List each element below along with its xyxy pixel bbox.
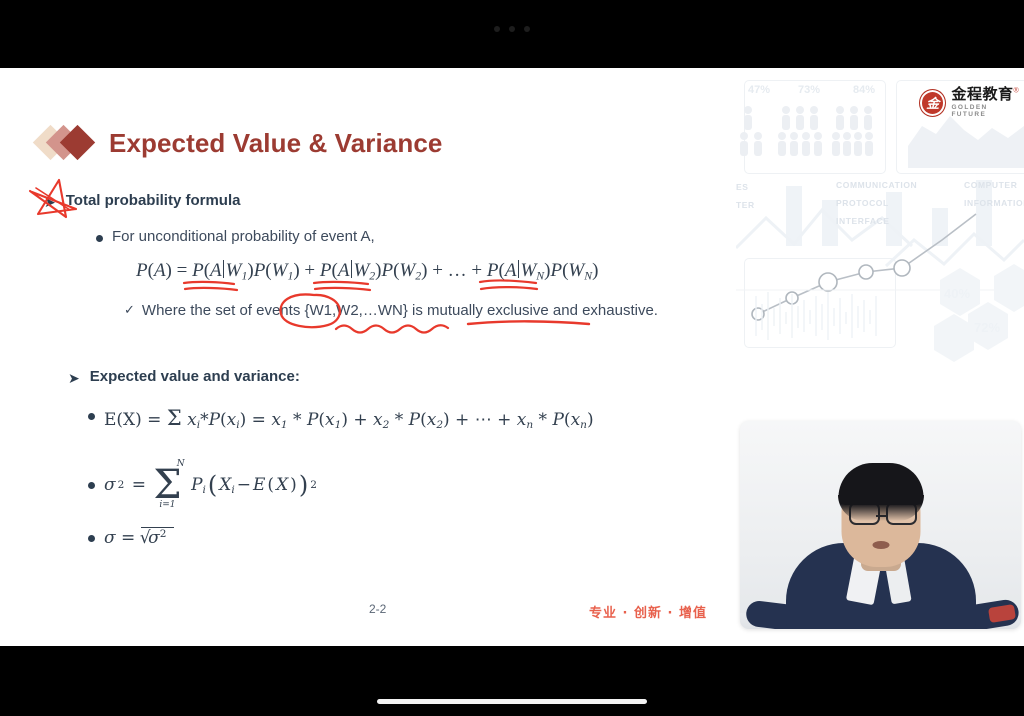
check-bullet-icon: ✓ (124, 302, 135, 318)
deco-word-2: COMMUNICATION (836, 180, 917, 190)
note-mutually-exclusive: ✓ Where the set of events {W1,W2,…WN} is… (124, 300, 658, 322)
section-2-heading: Expected value and variance: (90, 368, 300, 385)
section-1-note: Where the set of events {W1,W2,…WN} is m… (142, 300, 658, 322)
deco-word-4: INTERFACE (836, 216, 890, 226)
formula-expected-value-row: E(X) = Σ xi*P(xi) = x1 * P(x1) + x2 * P(… (88, 406, 594, 431)
logo-text-block: 金程教育® GOLDEN FUTURE (951, 87, 1024, 118)
golden-future-seal-icon: 金 (919, 89, 946, 117)
deco-hex-pct-0: 40% (944, 286, 970, 301)
bullet-1-text: For unconditional probability of event A… (112, 228, 375, 245)
letterbox-top (0, 0, 1024, 68)
formula-stddev: σ = σ2 √ (104, 528, 185, 548)
deco-word-5: COMPUTER (964, 180, 1017, 190)
section-heading-total-probability: ➤ Total probability formula (44, 192, 240, 209)
dot-bullet-icon (96, 235, 103, 242)
deco-word-0: ES (736, 182, 749, 192)
logo-registered-mark: ® (1013, 88, 1018, 95)
deco-word-1: TER (736, 200, 755, 210)
dot-bullet-icon-2 (88, 413, 95, 420)
home-indicator[interactable] (377, 699, 647, 704)
status-dots (0, 24, 1024, 34)
dot-bullet-icon-3 (88, 482, 95, 489)
dot-bullet-icon-4 (88, 535, 95, 542)
status-dot-1 (494, 26, 500, 32)
brand-tagline: 专业 · 创新 · 增值 (589, 602, 707, 621)
deco-people-and-charts (736, 68, 1024, 418)
total-probability-formula: P(A) = P(AW1)P(W1) + P(AW2)P(W2) + … + P… (136, 260, 598, 283)
slide-canvas: 47% 73% 84% (0, 68, 1024, 646)
formula-variance-row: σ2 = N Σ i=1 Pi(Xi − E(X))2 (88, 460, 317, 510)
status-dot-3 (524, 26, 530, 32)
section-1-heading: Total probability formula (66, 192, 241, 209)
deco-hex-pct-1: 72% (974, 320, 1000, 335)
annotation-squiggle-under-event-set (334, 320, 452, 336)
slide-title-row: Expected Value & Variance (38, 126, 442, 160)
diamond-ornament-icon (38, 126, 94, 160)
arrow-bullet-icon-2: ➤ (68, 371, 80, 385)
section-heading-expected-value: ➤ Expected value and variance: (68, 368, 300, 385)
page-number: 2-2 (369, 602, 386, 616)
formula-stddev-row: σ = σ2 √ (88, 528, 185, 548)
logo-chinese-name: 金程教育 (951, 85, 1013, 103)
page-title: Expected Value & Variance (109, 128, 442, 159)
decorative-infographics: 47% 73% 84% (736, 68, 1024, 418)
logo-cn-row: 金程教育® (951, 87, 1024, 103)
presenter-video-tile[interactable] (740, 421, 1021, 629)
deco-word-3: PROTOCOL (836, 198, 889, 208)
status-dot-2 (509, 26, 515, 32)
video-mouth (872, 541, 889, 549)
logo-english-name: GOLDEN FUTURE (951, 105, 1024, 118)
letterbox-bottom (0, 646, 1024, 716)
formula-expected-value: E(X) = Σ xi*P(xi) = x1 * P(x1) + x2 * P(… (104, 406, 594, 431)
formula-variance: σ2 = N Σ i=1 Pi(Xi − E(X))2 (104, 460, 317, 510)
brand-logo: 金 金程教育® GOLDEN FUTURE (919, 87, 1024, 118)
deco-word-6: INFORMATION (964, 198, 1024, 208)
device-screen: 47% 73% 84% (0, 0, 1024, 716)
bullet-unconditional-probability: For unconditional probability of event A… (96, 228, 375, 245)
arrow-bullet-icon: ➤ (44, 195, 56, 209)
